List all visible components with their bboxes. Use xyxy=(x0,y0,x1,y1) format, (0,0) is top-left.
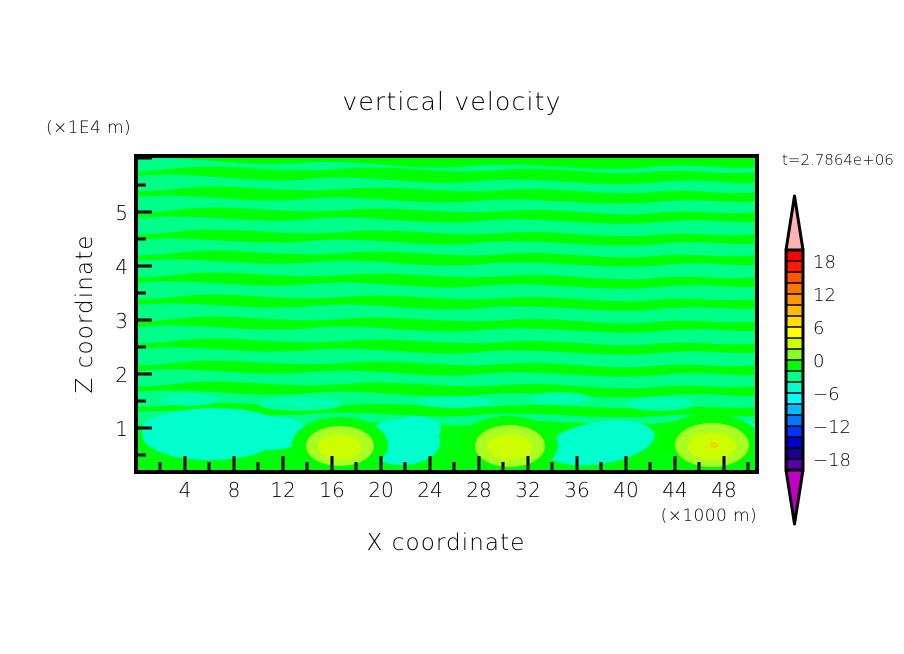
time-annotation: t=2.7864e+06 xyxy=(782,151,894,169)
x-tick-label: 20 xyxy=(368,478,393,502)
x-tick-label: 8 xyxy=(228,478,241,502)
contour-field xyxy=(136,156,764,474)
x-tick-label: 16 xyxy=(319,478,344,502)
colorbar-band xyxy=(786,327,803,338)
colorbar-band xyxy=(786,404,803,415)
colorbar-label: 6 xyxy=(813,318,824,339)
x-tick-label: 28 xyxy=(466,478,491,502)
figure-canvas: 4 8 12 16 20 24 28 32 36 40 44 48 xyxy=(0,0,904,654)
colorbar-band xyxy=(786,261,803,272)
colorbar-band xyxy=(786,393,803,404)
x-tick-label: 40 xyxy=(613,478,638,502)
colorbar-band xyxy=(786,338,803,349)
x-unit-label: (×1000 m) xyxy=(661,506,757,526)
colorbar-band xyxy=(786,294,803,305)
y-tick-label: 4 xyxy=(115,255,128,279)
colorbar-band xyxy=(786,250,803,261)
colorbar-label: 12 xyxy=(813,285,836,306)
colorbar-band xyxy=(786,415,803,426)
y-tick-label: 5 xyxy=(115,201,128,225)
colorbar-band xyxy=(786,426,803,437)
x-tick-label: 32 xyxy=(515,478,540,502)
x-tick-label: 12 xyxy=(270,478,295,502)
x-tick-label: 4 xyxy=(179,478,192,502)
colorbar-label: −6 xyxy=(813,384,840,405)
colorbar-band xyxy=(786,283,803,294)
colorbar-label: −12 xyxy=(813,417,851,438)
x-tick-label: 36 xyxy=(564,478,589,502)
x-tick-label: 24 xyxy=(417,478,442,502)
colorbar-band xyxy=(786,382,803,393)
y-tick-label: 2 xyxy=(115,363,128,387)
y-tick-label: 3 xyxy=(115,309,128,333)
colorbar-band xyxy=(786,349,803,360)
y-unit-label: (×1E4 m) xyxy=(46,118,131,138)
colorbar-band xyxy=(786,437,803,448)
y-tick-label: 1 xyxy=(115,417,128,441)
colorbar-band xyxy=(786,448,803,459)
colorbar-label: 0 xyxy=(813,351,824,372)
colorbar-band xyxy=(786,371,803,382)
colorbar-band xyxy=(786,360,803,371)
colorbar-band xyxy=(786,305,803,316)
colorbar-label: 18 xyxy=(813,252,836,273)
y-axis-title: Z coordinate xyxy=(72,235,98,394)
colorbar-label: −18 xyxy=(813,450,851,471)
colorbar-band xyxy=(786,316,803,327)
colorbar-band xyxy=(786,459,803,470)
contour-plot-figure: 4 8 12 16 20 24 28 32 36 40 44 48 xyxy=(0,0,904,654)
page-title: vertical velocity xyxy=(342,87,561,116)
x-tick-label: 44 xyxy=(662,478,687,502)
x-tick-label: 48 xyxy=(711,478,736,502)
x-axis-title: X coordinate xyxy=(367,530,526,556)
colorbar-band xyxy=(786,272,803,283)
